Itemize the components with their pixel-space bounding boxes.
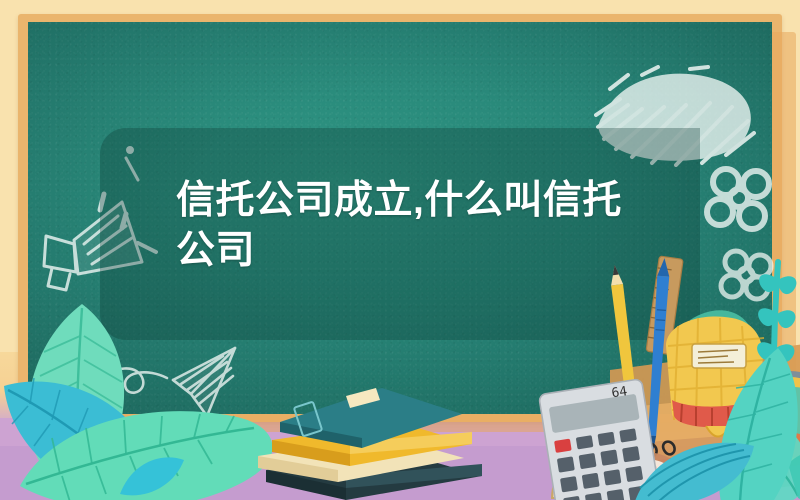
page-title: 信托公司成立,什么叫信托公司	[176, 176, 646, 276]
flower-small-icon	[712, 244, 784, 306]
desk-surface-purple-lower	[0, 446, 800, 500]
cover-image-stage: 信托公司成立,什么叫信托公司	[0, 0, 800, 500]
paper-plane-icon	[95, 340, 245, 420]
flower-icon	[698, 160, 784, 240]
